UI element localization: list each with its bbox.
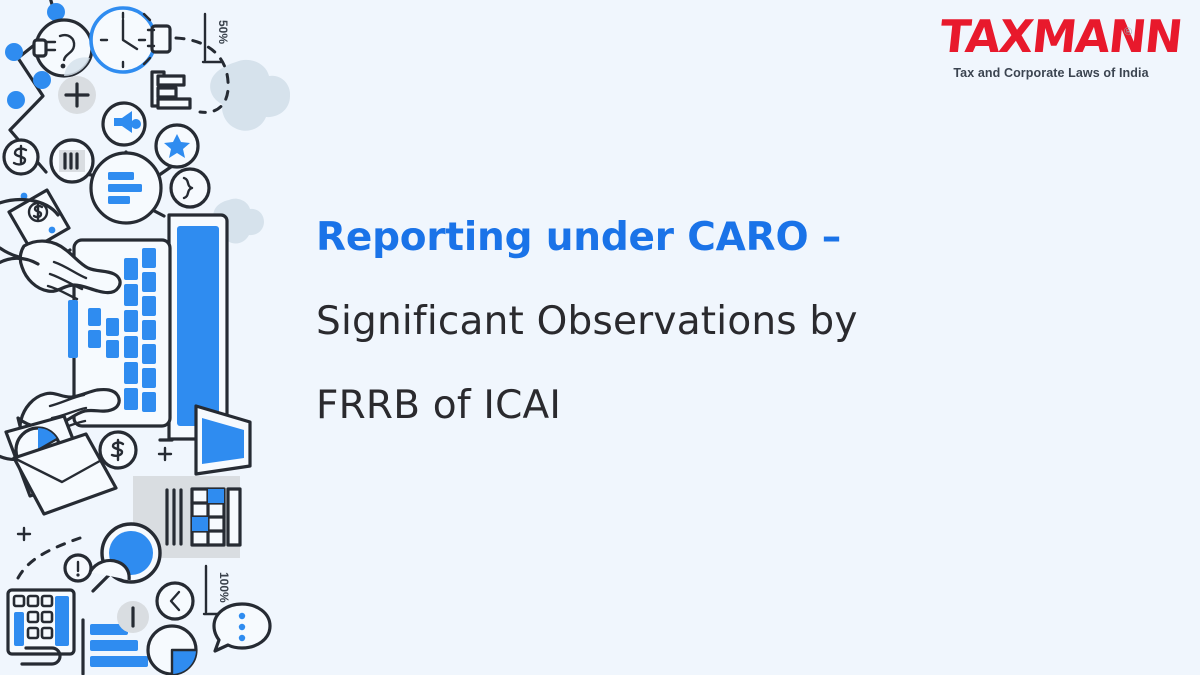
brand-tagline: Tax and Corporate Laws of India xyxy=(940,66,1162,80)
business-analytics-illustration: .ol { fill:none; stroke:#262b33; stroke-… xyxy=(0,0,290,675)
tally-chip-icon xyxy=(117,601,149,633)
info-icon xyxy=(65,555,91,581)
banner-root: .ol { fill:none; stroke:#262b33; stroke-… xyxy=(0,0,1200,675)
svg-text:100%: 100% xyxy=(217,572,231,603)
title-line-2: Significant Observations by xyxy=(316,280,1106,364)
coin-dollar-icon xyxy=(4,140,38,174)
lightbulb-icon xyxy=(34,20,92,76)
pie-chart-icon-2 xyxy=(148,626,196,674)
svg-text:50%: 50% xyxy=(216,20,230,44)
title-line-3: FRRB of ICAI xyxy=(316,364,1106,448)
page-title: Reporting under CARO – Significant Obser… xyxy=(316,196,1106,448)
coin-dollar-icon-2 xyxy=(100,432,136,468)
calculator-icon xyxy=(8,590,74,654)
clock-back-icon xyxy=(157,583,193,619)
title-line-1: Reporting under CARO – xyxy=(316,196,1106,280)
illustration-panel: .ol { fill:none; stroke:#262b33; stroke-… xyxy=(0,0,290,675)
plus-icon xyxy=(58,76,96,114)
registered-trademark-icon: ® xyxy=(1123,26,1132,38)
taxmann-logo: TAXMANN ® Tax and Corporate Laws of Indi… xyxy=(940,14,1162,80)
